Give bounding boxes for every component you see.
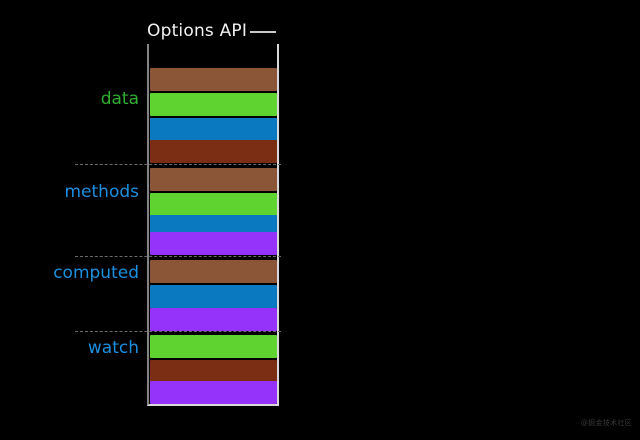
section-label-watch: watch: [0, 338, 139, 358]
bar-computed-2: [150, 285, 277, 308]
bar-data-3: [150, 118, 277, 141]
bar-data-2: [150, 93, 277, 116]
bar-watch-2: [150, 360, 277, 383]
bar-watch-1: [150, 335, 277, 358]
bar-computed-1: [150, 260, 277, 283]
section-label-computed: computed: [0, 263, 139, 283]
bar-data-1: [150, 68, 277, 91]
bar-data-4: [150, 140, 277, 163]
title-bracket-rule: [250, 31, 276, 33]
bar-computed-3: [150, 308, 277, 331]
page-title: Options API: [147, 23, 247, 40]
section-label-data: data: [0, 89, 139, 109]
bar-watch-3: [150, 381, 277, 404]
separator-watch: [75, 331, 281, 332]
bar-methods-1: [150, 168, 277, 191]
bar-methods-2: [150, 193, 277, 216]
separator-computed: [75, 256, 281, 257]
section-label-methods: methods: [0, 182, 139, 202]
diagram-title: Options API: [147, 18, 276, 44]
bar-methods-4: [150, 232, 277, 255]
diagram-canvas: Options API datamethodscomputedwatch @掘金…: [0, 0, 640, 440]
separator-methods: [75, 164, 281, 165]
watermark: @掘金技术社区: [581, 419, 632, 428]
